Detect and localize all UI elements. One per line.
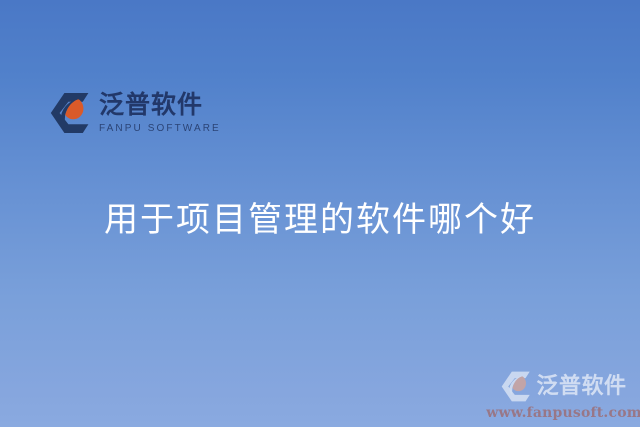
brand-wordmark: 泛普软件 FANPU SOFTWARE [99, 92, 221, 133]
fanpu-logo-mark-icon [501, 371, 531, 402]
brand-name-cn: 泛普软件 [99, 92, 221, 118]
watermark-logo-row: 泛普软件 [501, 371, 626, 402]
brand-logo: 泛普软件 FANPU SOFTWARE [50, 92, 221, 134]
slide-canvas: 泛普软件 FANPU SOFTWARE 用于项目管理的软件哪个好 泛普软件 ww… [0, 0, 640, 427]
fanpu-logo-mark-icon [50, 92, 90, 134]
watermark-url: www.fanpusoft.com [486, 405, 640, 421]
site-watermark: 泛普软件 www.fanpusoft.com [494, 371, 634, 421]
headline-title: 用于项目管理的软件哪个好 [0, 198, 640, 242]
watermark-name-cn: 泛普软件 [536, 376, 626, 398]
brand-name-en: FANPU SOFTWARE [99, 124, 221, 134]
